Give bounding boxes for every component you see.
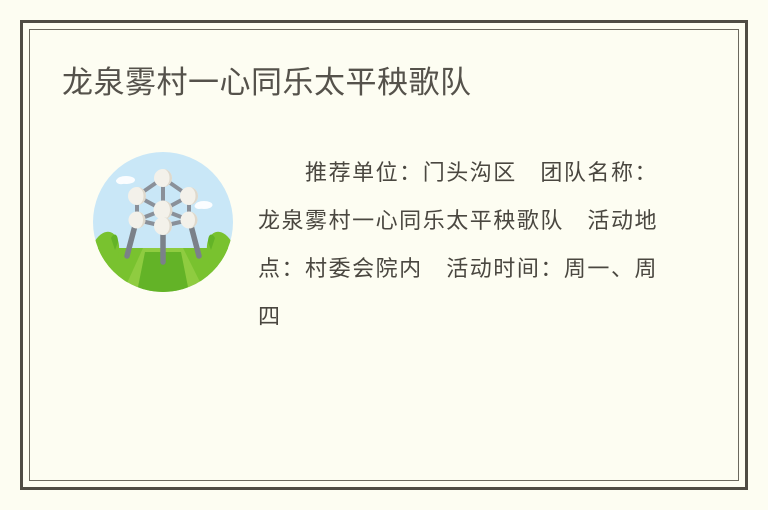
team-details-text: 推荐单位：门头沟区 团队名称：龙泉雾村一心同乐太平秧歌队 活动地点：村委会院内 … [258,149,658,341]
page-title: 龙泉雾村一心同乐太平秧歌队 [62,63,472,103]
poster-card: 龙泉雾村一心同乐太平秧歌队 [0,0,768,510]
atomium-landmark-icon [93,152,233,292]
card-content: 龙泉雾村一心同乐太平秧歌队 [29,29,739,481]
